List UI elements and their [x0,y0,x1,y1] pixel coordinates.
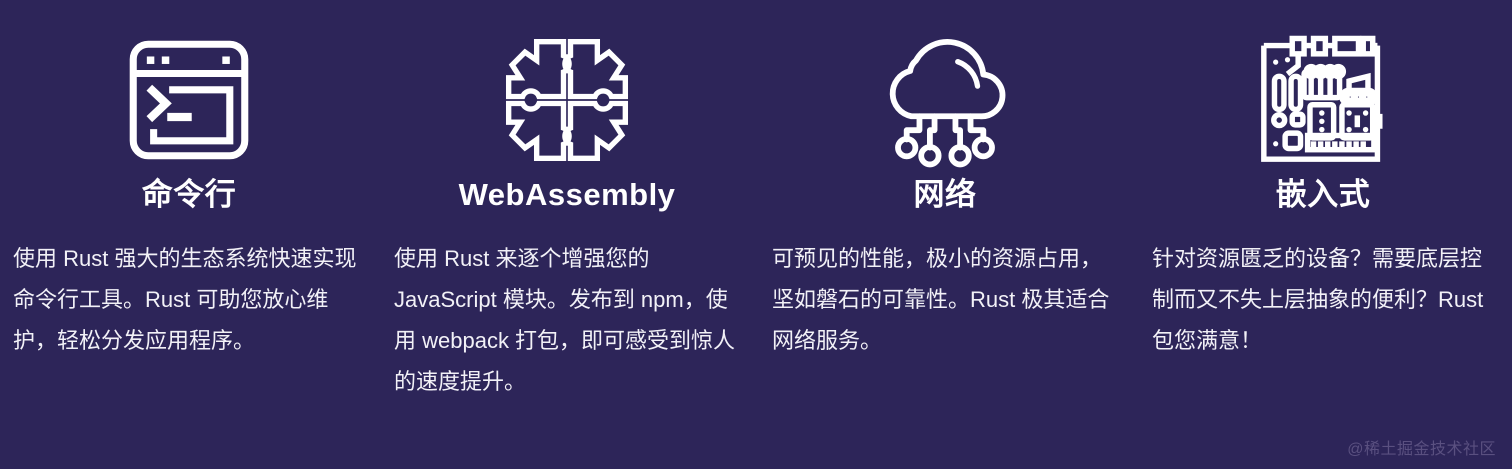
card-title: WebAssembly [459,178,676,212]
terminal-window-icon [114,30,264,170]
feature-card-embedded: 嵌入式 针对资源匮乏的设备？需要底层控制而又不失上层抽象的便利？Rust 包您满… [1134,0,1512,469]
card-description: 使用 Rust 来逐个增强您的 JavaScript 模块。发布到 npm，使用… [384,238,750,402]
card-title: 嵌入式 [1276,178,1371,212]
card-description: 使用 Rust 强大的生态系统快速实现命令行工具。Rust 可助您放心维护，轻松… [11,238,367,361]
feature-card-network: 网络 可预见的性能，极小的资源占用，坚如磐石的可靠性。Rust 极其适合网络服务… [756,0,1134,469]
feature-card-webassembly: WebAssembly 使用 Rust 来逐个增强您的 JavaScript 模… [378,0,756,469]
cloud-network-icon [870,30,1020,170]
circuit-board-icon [1248,30,1398,170]
feature-card-command-line: 命令行 使用 Rust 强大的生态系统快速实现命令行工具。Rust 可助您放心维… [0,0,378,469]
card-description: 可预见的性能，极小的资源占用，坚如磐石的可靠性。Rust 极其适合网络服务。 [762,238,1128,361]
card-title: 网络 [914,178,977,212]
feature-grid: 命令行 使用 Rust 强大的生态系统快速实现命令行工具。Rust 可助您放心维… [0,0,1512,469]
card-description: 针对资源匮乏的设备？需要底层控制而又不失上层抽象的便利？Rust 包您满意！ [1144,238,1502,361]
watermark: @稀土掘金技术社区 [1347,435,1496,459]
card-title: 命令行 [142,178,237,212]
puzzle-gear-icon [492,30,642,170]
